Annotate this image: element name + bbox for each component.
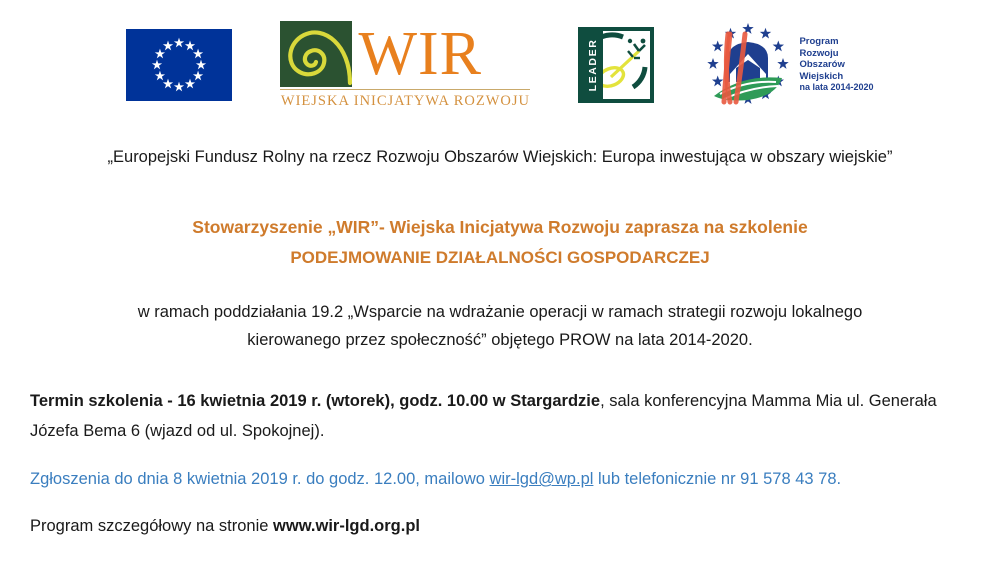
document-body: „Europejski Fundusz Rolny na rzecz Rozwo… bbox=[0, 148, 1000, 536]
invitation-line-1: Stowarzyszenie „WIR”- Wiejska Inicjatywa… bbox=[30, 217, 970, 238]
prow-logo-text: Program Rozwoju Obszarów Wiejskich na la… bbox=[799, 36, 873, 94]
wir-logo: WIR WIEJSKA INICJATYWA ROZWOJU bbox=[280, 21, 530, 110]
prow-text-line1: Program bbox=[799, 36, 873, 48]
scope-line-2: kierowanego przez społeczność” objętego … bbox=[30, 326, 970, 354]
training-details-paragraph: Termin szkolenia - 16 kwietnia 2019 r. (… bbox=[30, 386, 970, 446]
leader-logo-inner: LEADER bbox=[582, 31, 650, 99]
prow-text-line2: Rozwoju bbox=[799, 48, 873, 60]
training-date-time-place: Termin szkolenia - 16 kwietnia 2019 r. (… bbox=[30, 392, 600, 410]
european-union-flag-icon bbox=[126, 29, 232, 101]
signup-deadline-text: Zgłoszenia do dnia 8 kwietnia 2019 r. do… bbox=[30, 470, 490, 488]
wir-wordmark: WIR bbox=[352, 21, 530, 87]
leader-label: LEADER bbox=[587, 39, 599, 92]
program-prefix-text: Program szczegółowy na stronie bbox=[30, 517, 273, 535]
program-paragraph: Program szczegółowy na stronie www.wir-l… bbox=[30, 517, 970, 536]
wir-tagline: WIEJSKA INICJATYWA ROZWOJU bbox=[280, 90, 530, 110]
leader-logo: LEADER bbox=[578, 27, 654, 103]
signup-phone-text: lub telefonicznie nr 91 578 43 78. bbox=[593, 470, 841, 488]
signup-paragraph: Zgłoszenia do dnia 8 kwietnia 2019 r. do… bbox=[30, 470, 970, 489]
scope-line-1: w ramach poddziałania 19.2 „Wsparcie na … bbox=[30, 298, 970, 326]
eu-fund-quote: „Europejski Fundusz Rolny na rzecz Rozwo… bbox=[30, 148, 970, 167]
logo-strip: WIR WIEJSKA INICJATYWA ROZWOJU LEADER bbox=[0, 0, 1000, 118]
prow-emblem-icon bbox=[702, 22, 794, 108]
prow-text-years: na lata 2014-2020 bbox=[799, 82, 873, 94]
prow-text-line3: Obszarów bbox=[799, 59, 873, 71]
leader-logo-left-panel: LEADER bbox=[582, 31, 602, 99]
prow-logo: Program Rozwoju Obszarów Wiejskich na la… bbox=[702, 22, 873, 108]
signup-email-link[interactable]: wir-lgd@wp.pl bbox=[490, 470, 594, 488]
wir-logo-top: WIR bbox=[280, 21, 530, 87]
invitation-heading: Stowarzyszenie „WIR”- Wiejska Inicjatywa… bbox=[30, 217, 970, 268]
leader-logo-right-panel bbox=[603, 31, 651, 99]
measure-scope-paragraph: w ramach poddziałania 19.2 „Wsparcie na … bbox=[30, 298, 970, 354]
prow-text-line4: Wiejskich bbox=[799, 71, 873, 83]
invitation-line-2: PODEJMOWANIE DZIAŁALNOŚCI GOSPODARCZEJ bbox=[30, 248, 970, 268]
wir-spiral-icon bbox=[280, 21, 352, 87]
program-website: www.wir-lgd.org.pl bbox=[273, 517, 420, 535]
